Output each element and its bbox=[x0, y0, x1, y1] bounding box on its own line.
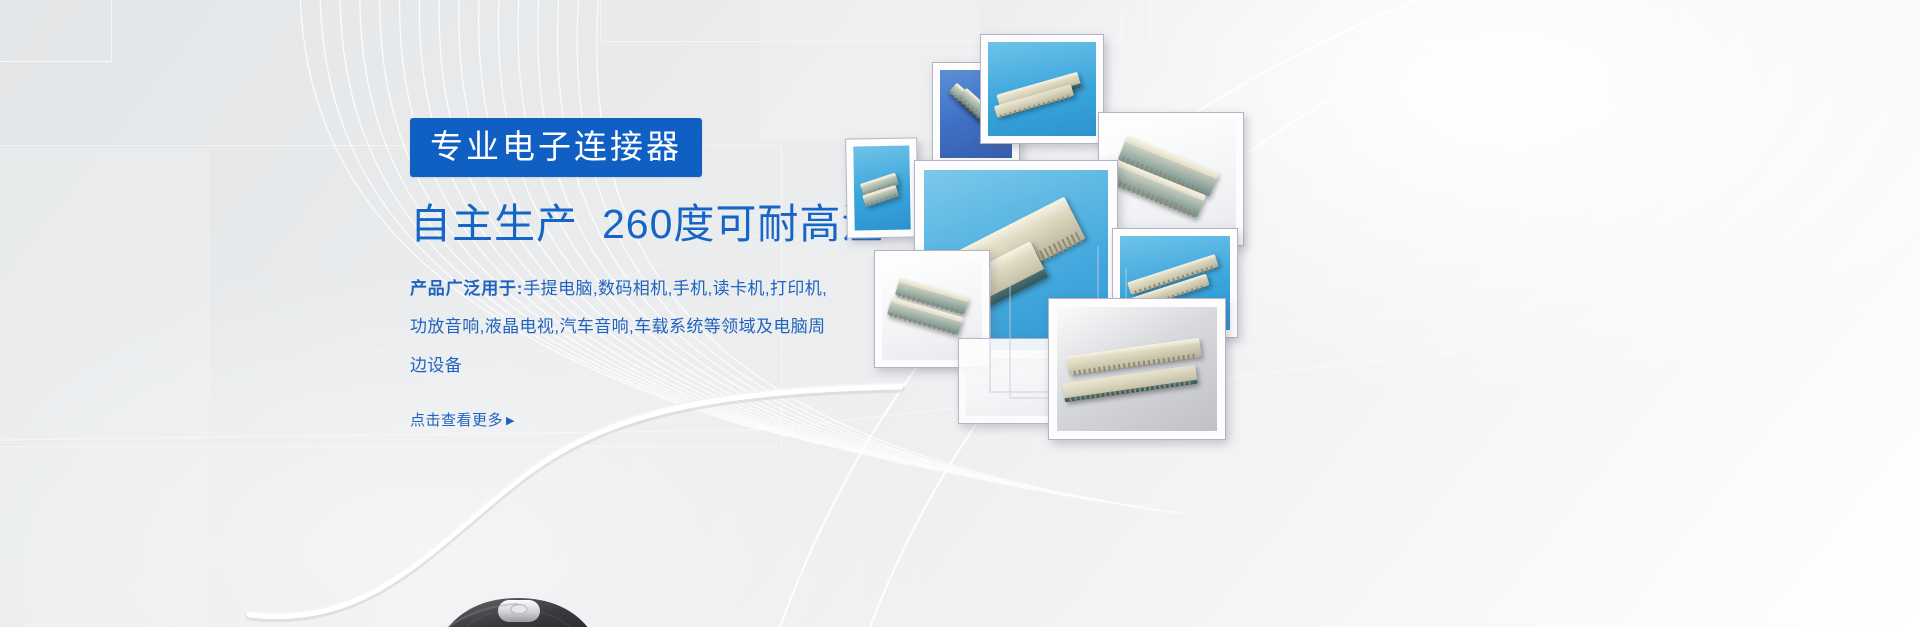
hero-banner: 专业电子连接器 自主生产260度可耐高温 产品广泛用于:手提电脑,数码相机,手机… bbox=[0, 0, 1920, 627]
computer-mouse bbox=[400, 578, 640, 627]
product-photo bbox=[988, 42, 1096, 136]
product-card[interactable] bbox=[1048, 298, 1226, 440]
description-line-1: 手提电脑,数码相机,手机,读卡机,打印机, bbox=[523, 279, 827, 298]
product-card[interactable] bbox=[1098, 112, 1244, 246]
product-photo bbox=[1106, 120, 1236, 238]
product-card[interactable] bbox=[845, 137, 919, 238]
product-photo bbox=[853, 146, 910, 231]
headline-part-1: 自主生产 bbox=[410, 201, 578, 247]
product-photo bbox=[1057, 307, 1217, 431]
badge-title: 专业电子连接器 bbox=[410, 118, 702, 177]
bg-panel-topleft bbox=[0, 0, 112, 62]
product-card[interactable] bbox=[980, 34, 1104, 144]
description-label: 产品广泛用于: bbox=[410, 279, 523, 298]
